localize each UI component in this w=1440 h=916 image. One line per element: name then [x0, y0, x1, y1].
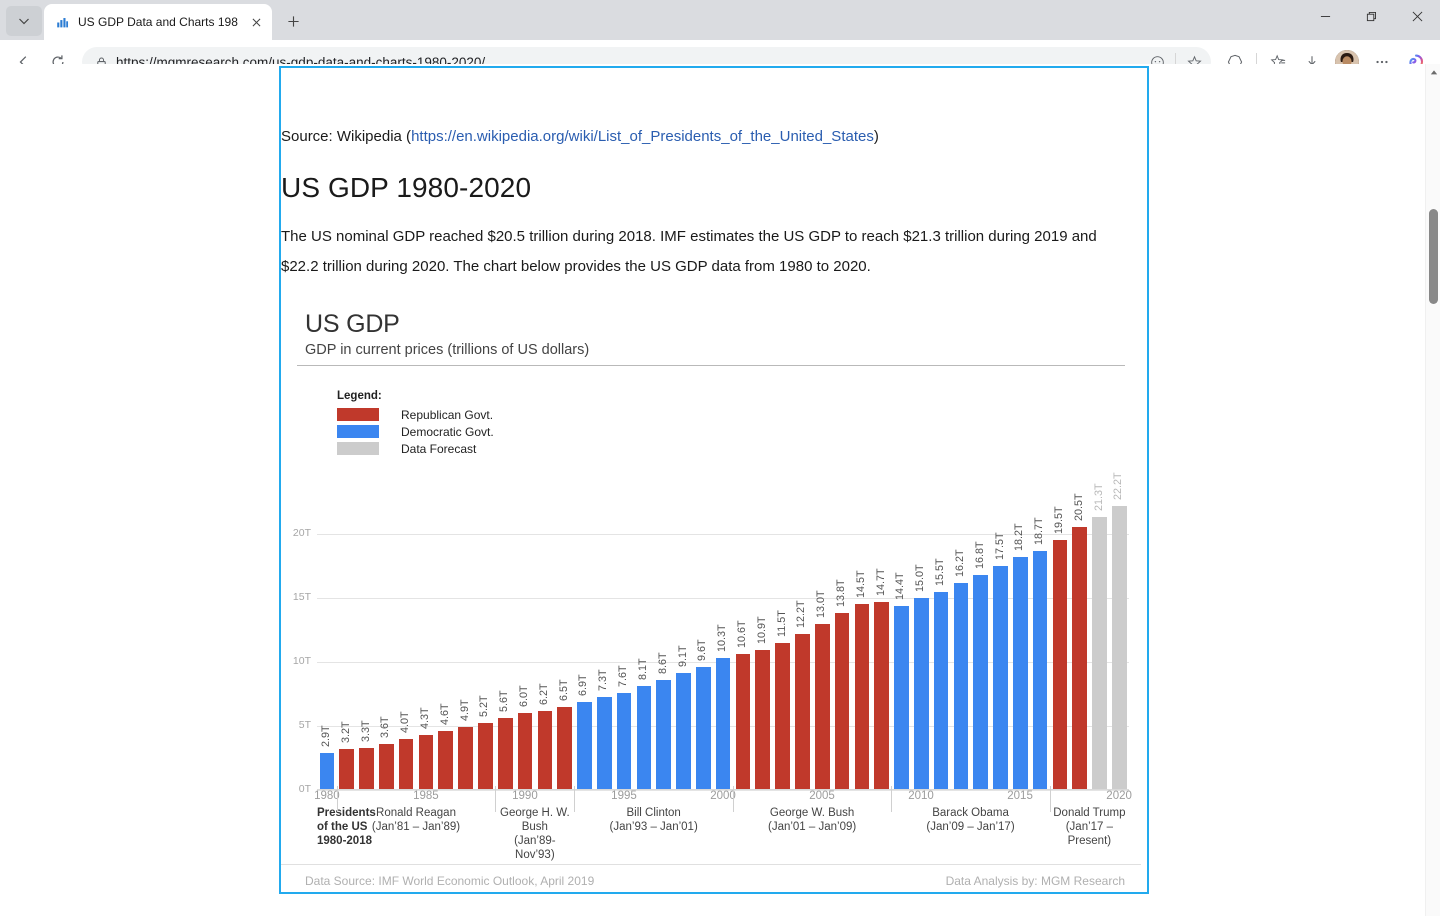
bar-value-label: 4.0T [399, 711, 411, 733]
bar-2018: 20.5T [1072, 527, 1087, 790]
y-axis-tick: 20T [281, 527, 311, 539]
bar-value-label: 19.5T [1053, 507, 1065, 535]
president-term: (Jan’81 – Jan’89) [337, 820, 495, 834]
bar-1984: 4.0T [399, 739, 414, 790]
x-axis-year-1995: 1995 [611, 790, 637, 802]
bar-2002: 10.9T [755, 650, 770, 790]
bar-value-label: 4.3T [419, 707, 431, 729]
intro-paragraph: The US nominal GDP reached $20.5 trillio… [281, 222, 1121, 282]
bar-cell: 10.3T [713, 498, 733, 790]
browser-tab[interactable]: US GDP Data and Charts 1980-202 [44, 4, 272, 40]
chart-divider [297, 365, 1125, 366]
minimize-button[interactable] [1302, 0, 1348, 32]
bar-1981: 3.2T [339, 749, 354, 790]
bar-value-label: 4.6T [439, 703, 451, 725]
x-axis: Presidents of the US 1980-2018 198019851… [317, 790, 1129, 844]
x-axis-year-1990: 1990 [512, 790, 538, 802]
bar-cell: 6.0T [515, 498, 535, 790]
bar-value-label: 18.7T [1033, 517, 1045, 545]
bar-1987: 4.9T [458, 727, 473, 790]
bar-cell: 4.6T [436, 498, 456, 790]
gdp-chart: US GDP GDP in current prices (trillions … [281, 310, 1141, 888]
bar-2008: 14.7T [874, 602, 889, 790]
page-scrollbar[interactable] [1425, 64, 1440, 916]
bar-1986: 4.6T [438, 731, 453, 790]
data-source-text: Data Source: IMF World Economic Outlook,… [305, 874, 594, 888]
president-term: (Jan’89-Nov’93) [495, 834, 574, 862]
bar-cell: 4.3T [416, 498, 436, 790]
bar-2005: 13.0T [815, 624, 830, 790]
bar-value-label: 13.8T [835, 580, 847, 608]
president-term: (Jan’17 – Present) [1050, 820, 1129, 848]
close-icon [1412, 11, 1423, 22]
maximize-button[interactable] [1348, 0, 1394, 32]
close-icon[interactable] [246, 12, 266, 32]
bar-cell: 16.8T [971, 498, 991, 790]
bar-2011: 15.5T [934, 592, 949, 791]
bar-cell: 12.2T [793, 498, 813, 790]
x-axis-year-2020: 2020 [1106, 790, 1132, 802]
president-block: Ronald Reagan(Jan’81 – Jan’89) [337, 806, 495, 834]
bar-2003: 11.5T [775, 643, 790, 790]
source-suffix: ) [874, 128, 879, 145]
bar-chart-icon [54, 14, 70, 30]
restore-icon [1366, 11, 1377, 22]
bar-2016: 18.7T [1033, 551, 1048, 790]
bar-2010: 15.0T [914, 598, 929, 790]
bar-cell: 18.7T [1030, 498, 1050, 790]
bar-cell: 9.6T [693, 498, 713, 790]
chart-subtitle: GDP in current prices (trillions of US d… [281, 342, 1141, 358]
bar-2020: 22.2T [1112, 506, 1127, 790]
president-block: George H. W. Bush(Jan’89-Nov’93) [495, 806, 574, 862]
x-axis-year-2010: 2010 [908, 790, 934, 802]
bar-2006: 13.8T [835, 613, 850, 790]
bar-2000: 10.3T [716, 658, 731, 790]
legend-item: Data Forecast [337, 440, 494, 457]
bar-value-label: 16.2T [954, 549, 966, 577]
chevron-down-icon [18, 15, 30, 27]
data-analysis-text: Data Analysis by: MGM Research [946, 874, 1125, 888]
window-close-button[interactable] [1394, 0, 1440, 32]
bar-1998: 9.1T [676, 673, 691, 790]
bar-cell: 5.6T [495, 498, 515, 790]
bar-series: 2.9T3.2T3.3T3.6T4.0T4.3T4.6T4.9T5.2T5.6T… [317, 498, 1129, 790]
bar-cell: 13.0T [812, 498, 832, 790]
bar-value-label: 7.3T [597, 669, 609, 691]
page-title: US GDP 1980-2020 [281, 172, 1147, 204]
plus-icon [287, 15, 300, 28]
scrollbar-thumb[interactable] [1429, 209, 1438, 304]
president-block: Donald Trump(Jan’17 – Present) [1050, 806, 1129, 848]
bar-cell: 20.5T [1070, 498, 1090, 790]
bar-value-label: 2.9T [320, 725, 332, 747]
y-axis-tick: 0T [281, 783, 311, 795]
bar-cell: 14.5T [852, 498, 872, 790]
bar-cell: 5.2T [476, 498, 496, 790]
bar-value-label: 4.9T [459, 700, 471, 722]
president-name: Bill Clinton [574, 806, 732, 820]
bar-cell: 4.9T [456, 498, 476, 790]
chart-footer: Data Source: IMF World Economic Outlook,… [281, 864, 1141, 888]
bar-value-label: 3.6T [379, 716, 391, 738]
bar-2013: 16.8T [973, 575, 988, 790]
chart-title: US GDP [281, 310, 1141, 339]
source-line: Source: Wikipedia (https://en.wikipedia.… [281, 94, 1147, 148]
president-term: (Jan’09 – Jan’17) [891, 820, 1049, 834]
bar-value-label: 21.3T [1093, 484, 1105, 512]
bar-cell: 10.6T [733, 498, 753, 790]
president-block: Bill Clinton(Jan’93 – Jan’01) [574, 806, 732, 834]
bar-1988: 5.2T [478, 723, 493, 790]
bar-cell: 4.0T [396, 498, 416, 790]
bar-cell: 8.6T [654, 498, 674, 790]
bar-1995: 7.6T [617, 693, 632, 790]
president-name: George H. W. Bush [495, 806, 574, 834]
bar-cell: 9.1T [674, 498, 694, 790]
minimize-icon [1320, 11, 1331, 22]
bar-value-label: 3.2T [340, 721, 352, 743]
tab-title: US GDP Data and Charts 1980-202 [78, 15, 238, 29]
bar-cell: 3.3T [357, 498, 377, 790]
legend-swatch-democratic [337, 425, 379, 438]
wikipedia-link[interactable]: https://en.wikipedia.org/wiki/List_of_Pr… [411, 128, 874, 145]
clipped-previous-text [281, 68, 1147, 94]
bar-1993: 6.9T [577, 702, 592, 790]
bar-value-label: 14.7T [875, 568, 887, 596]
bar-cell: 17.5T [991, 498, 1011, 790]
legend-label-democratic: Democratic Govt. [401, 425, 494, 439]
bar-value-label: 6.5T [558, 679, 570, 701]
bar-value-label: 9.1T [677, 646, 689, 668]
bar-2019: 21.3T [1092, 517, 1107, 790]
bar-value-label: 7.6T [617, 665, 629, 687]
bar-2012: 16.2T [954, 583, 969, 790]
article-content: Source: Wikipedia (https://en.wikipedia.… [281, 68, 1147, 916]
bar-value-label: 6.2T [538, 683, 550, 705]
bar-value-label: 3.3T [360, 720, 372, 742]
bar-2004: 12.2T [795, 634, 810, 790]
bar-value-label: 10.6T [736, 621, 748, 649]
bar-value-label: 6.9T [577, 674, 589, 696]
bar-value-label: 15.5T [934, 558, 946, 586]
bar-1980: 2.9T [320, 753, 335, 790]
bar-cell: 14.4T [892, 498, 912, 790]
bar-2017: 19.5T [1053, 540, 1068, 790]
source-prefix: Source: Wikipedia ( [281, 128, 411, 145]
legend-title: Legend: [337, 390, 494, 402]
legend-swatch-forecast [337, 442, 379, 455]
president-term: (Jan’93 – Jan’01) [574, 820, 732, 834]
bar-value-label: 8.1T [637, 659, 649, 681]
bar-value-label: 6.0T [518, 686, 530, 708]
bar-cell: 7.3T [594, 498, 614, 790]
legend-swatch-republican [337, 408, 379, 421]
bar-cell: 13.8T [832, 498, 852, 790]
bar-cell: 6.5T [555, 498, 575, 790]
bar-cell: 15.0T [911, 498, 931, 790]
bar-cell: 7.6T [614, 498, 634, 790]
bar-value-label: 10.9T [756, 617, 768, 645]
bar-value-label: 22.2T [1112, 472, 1124, 500]
president-term: (Jan’01 – Jan’09) [733, 820, 891, 834]
scroll-up-arrow-icon[interactable] [1426, 64, 1440, 80]
president-block: George W. Bush(Jan’01 – Jan’09) [733, 806, 891, 834]
president-block: Barack Obama(Jan’09 – Jan’17) [891, 806, 1049, 834]
bar-cell: 21.3T [1090, 498, 1110, 790]
bar-cell: 16.2T [951, 498, 971, 790]
y-axis-tick: 5T [281, 719, 311, 731]
bar-1996: 8.1T [637, 686, 652, 790]
browser-window: US GDP Data and Charts 1980-202 [0, 0, 1440, 916]
bar-1982: 3.3T [359, 748, 374, 790]
x-axis-year-2015: 2015 [1007, 790, 1033, 802]
bar-value-label: 11.5T [776, 610, 788, 637]
bar-1994: 7.3T [597, 697, 612, 790]
bar-value-label: 9.6T [696, 639, 708, 661]
bar-cell: 11.5T [773, 498, 793, 790]
bar-value-label: 5.2T [478, 696, 490, 718]
bar-2014: 17.5T [993, 566, 1008, 790]
plot-area: Legend: Republican Govt. Democratic Govt… [281, 370, 1141, 790]
x-axis-year-1985: 1985 [413, 790, 439, 802]
bar-value-label: 12.2T [795, 600, 807, 628]
new-tab-button[interactable] [278, 6, 308, 36]
bar-1992: 6.5T [557, 707, 572, 790]
legend-item: Democratic Govt. [337, 423, 494, 440]
president-name: Barack Obama [891, 806, 1049, 820]
bar-value-label: 8.6T [657, 652, 669, 674]
bar-1983: 3.6T [379, 744, 394, 790]
bar-1997: 8.6T [656, 680, 671, 790]
bar-cell: 8.1T [634, 498, 654, 790]
bar-cell: 6.9T [575, 498, 595, 790]
bar-value-label: 13.0T [815, 590, 827, 618]
bar-cell: 2.9T [317, 498, 337, 790]
bar-1991: 6.2T [538, 711, 553, 790]
bar-2009: 14.4T [894, 606, 909, 790]
bar-value-label: 10.3T [716, 624, 728, 652]
bar-value-label: 17.5T [994, 532, 1006, 560]
tab-strip: US GDP Data and Charts 1980-202 [0, 0, 1440, 40]
y-axis-tick: 10T [281, 655, 311, 667]
president-name: Donald Trump [1050, 806, 1129, 820]
y-axis-tick: 15T [281, 591, 311, 603]
legend-label-forecast: Data Forecast [401, 442, 476, 456]
bar-value-label: 14.5T [855, 571, 867, 599]
chart-legend: Legend: Republican Govt. Democratic Govt… [337, 390, 494, 457]
page-viewport: Source: Wikipedia (https://en.wikipedia.… [0, 64, 1440, 916]
bar-2007: 14.5T [855, 604, 870, 790]
bar-value-label: 16.8T [974, 541, 986, 569]
bar-cell: 22.2T [1110, 498, 1130, 790]
tab-search-dropdown-button[interactable] [6, 6, 42, 36]
president-name: Ronald Reagan [337, 806, 495, 820]
window-controls [1302, 0, 1440, 40]
bar-cell: 3.2T [337, 498, 357, 790]
bar-value-label: 15.0T [914, 564, 926, 592]
bar-value-label: 5.6T [498, 691, 510, 713]
bar-value-label: 18.2T [1013, 523, 1025, 551]
bar-1985: 4.3T [419, 735, 434, 790]
bar-1989: 5.6T [498, 718, 513, 790]
bar-cell: 10.9T [753, 498, 773, 790]
bar-2001: 10.6T [736, 654, 751, 790]
bar-value-label: 20.5T [1073, 494, 1085, 522]
legend-item: Republican Govt. [337, 406, 494, 423]
bar-cell: 6.2T [535, 498, 555, 790]
legend-label-republican: Republican Govt. [401, 408, 493, 422]
bar-cell: 18.2T [1010, 498, 1030, 790]
bar-cell: 3.6T [376, 498, 396, 790]
bar-2015: 18.2T [1013, 557, 1028, 790]
bar-value-label: 14.4T [894, 572, 906, 600]
bar-cell: 19.5T [1050, 498, 1070, 790]
x-axis-year-2005: 2005 [809, 790, 835, 802]
bar-1990: 6.0T [518, 713, 533, 790]
bar-cell: 14.7T [872, 498, 892, 790]
bar-1999: 9.6T [696, 667, 711, 790]
bar-cell: 15.5T [931, 498, 951, 790]
president-name: George W. Bush [733, 806, 891, 820]
